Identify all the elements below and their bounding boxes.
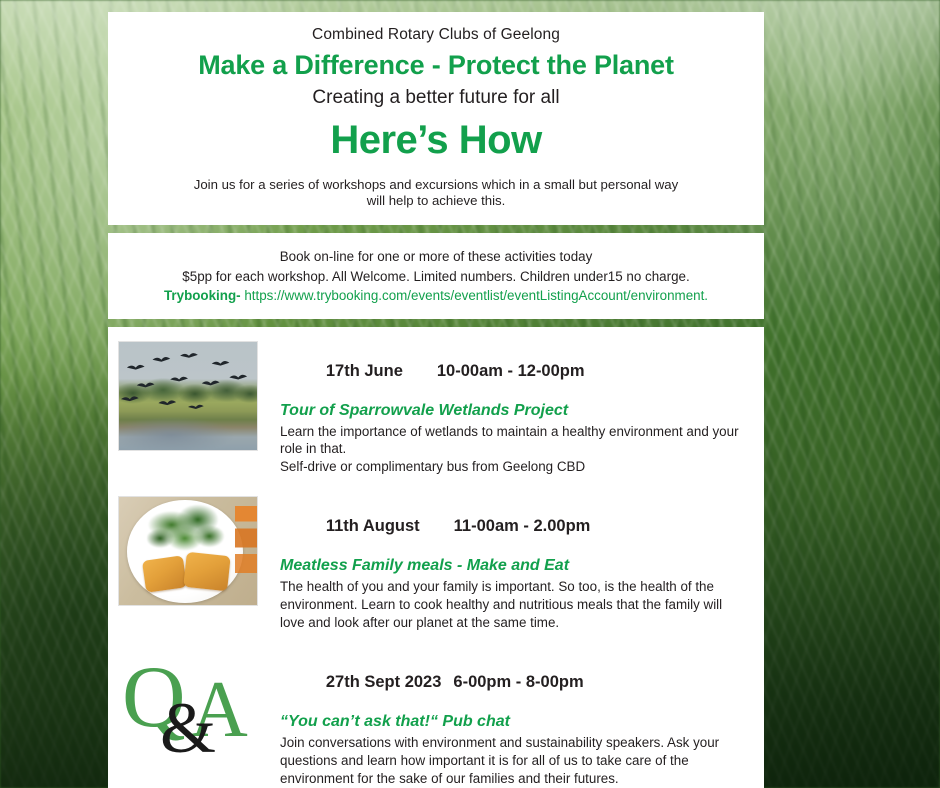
booking-line-2: $5pp for each workshop. All Welcome. Lim… — [132, 267, 740, 286]
subtitle: Creating a better future for all — [132, 87, 740, 109]
event-text: 17th June10-00am - 12-00pm Tour of Sparr… — [280, 341, 748, 477]
event-description: Learn the importance of wetlands to main… — [280, 423, 748, 477]
event-date-time-row: 17th June10-00am - 12-00pm — [280, 343, 748, 400]
event-date: 11th August — [326, 517, 420, 535]
trybooking-url[interactable]: https://www.trybooking.com/events/eventl… — [244, 288, 708, 303]
event-title: Meatless Family meals - Make and Eat — [280, 557, 748, 575]
ampersand-icon: & — [160, 692, 216, 762]
greens-shape — [147, 504, 230, 556]
page-title: Make a Difference - Protect the Planet — [132, 50, 740, 81]
events-panel: 17th June10-00am - 12-00pm Tour of Sparr… — [108, 327, 764, 788]
booking-panel: Book on-line for one or more of these ac… — [108, 233, 764, 318]
event-date: 27th Sept 2023 — [326, 673, 442, 691]
event-text: 11th August11-00am - 2.00pm Meatless Fam… — [280, 496, 748, 632]
booking-line-1: Book on-line for one or more of these ac… — [132, 247, 740, 266]
fritter-shape — [142, 555, 187, 593]
event-time: 6-00pm - 8-00pm — [453, 673, 583, 691]
wetlands-birds-photo — [118, 341, 258, 451]
meatless-meal-photo — [118, 496, 258, 606]
event-text: 27th Sept 20236-00pm - 8-00pm “You can’t… — [280, 652, 748, 788]
fritter-shape — [184, 551, 232, 590]
event-description: Join conversations with environment and … — [280, 734, 748, 788]
question-and-answer-logo: Q A & — [118, 652, 258, 762]
booking-link-row[interactable]: Trybooking- https://www.trybooking.com/e… — [132, 286, 740, 305]
intro-text: Join us for a series of workshops and ex… — [191, 177, 681, 209]
event-date: 17th June — [326, 362, 403, 380]
event-item[interactable]: 11th August11-00am - 2.00pm Meatless Fam… — [108, 492, 764, 636]
event-time: 10-00am - 12-00pm — [437, 362, 585, 380]
panel-gap — [108, 319, 764, 327]
event-title: “You can’t ask that!“ Pub chat — [280, 713, 748, 731]
event-time: 11-00am - 2.00pm — [454, 517, 591, 535]
event-title: Tour of Sparrowvale Wetlands Project — [280, 402, 748, 420]
poster-container: Combined Rotary Clubs of Geelong Make a … — [108, 12, 764, 788]
event-item[interactable]: 17th June10-00am - 12-00pm Tour of Sparr… — [108, 337, 764, 481]
birds-flying-icon — [119, 342, 257, 450]
panel-gap — [108, 225, 764, 233]
event-date-time-row: 27th Sept 20236-00pm - 8-00pm — [280, 654, 748, 711]
hero-heading: Here’s How — [132, 119, 740, 161]
event-item[interactable]: Q A & 27th Sept 20236-00pm - 8-00pm “You… — [108, 648, 764, 788]
trybooking-label: Trybooking- — [164, 288, 241, 303]
organisation-line: Combined Rotary Clubs of Geelong — [132, 26, 740, 44]
header-panel: Combined Rotary Clubs of Geelong Make a … — [108, 12, 764, 225]
event-description: The health of you and your family is imp… — [280, 578, 748, 632]
event-date-time-row: 11th August11-00am - 2.00pm — [280, 498, 748, 555]
carrots-shape — [235, 506, 257, 592]
